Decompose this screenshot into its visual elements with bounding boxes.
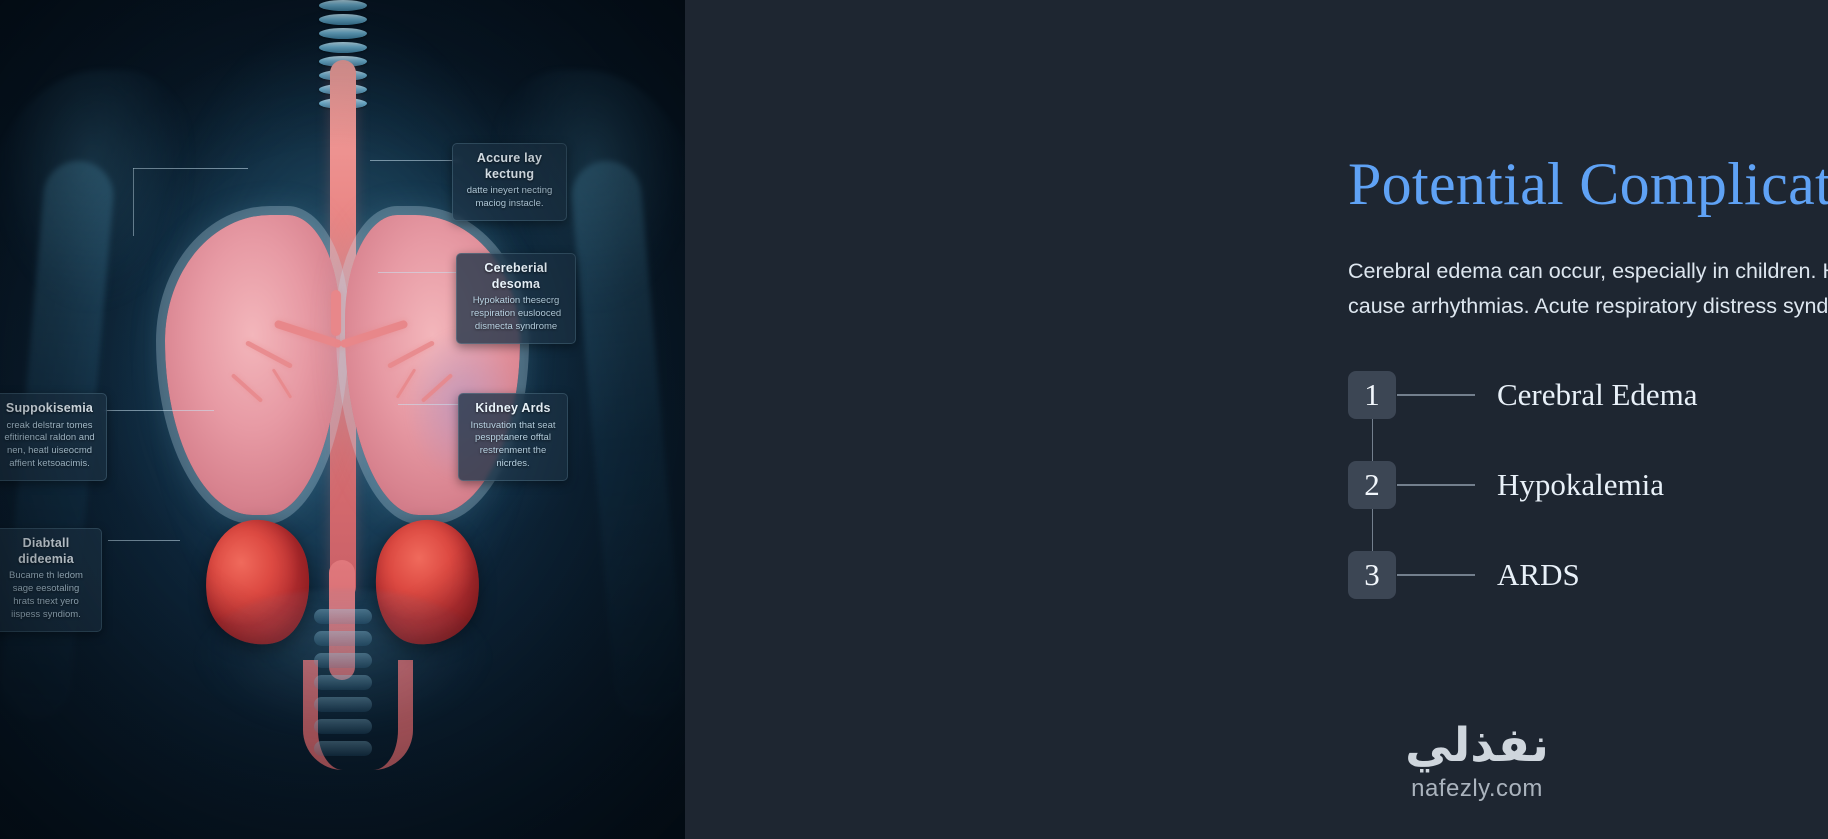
slide-description: Cerebral edema can occur, especially in … bbox=[1348, 254, 1828, 324]
list-item[interactable]: 2 Hypokalemia bbox=[1348, 440, 1698, 530]
page-title: Potential Complications bbox=[1348, 152, 1828, 217]
step-number-badge: 1 bbox=[1348, 371, 1396, 419]
callout-box: Diabtall dideemia Bucame th ledom sage e… bbox=[0, 528, 102, 632]
callout-body: creak delstrar tomes efitiriencal raldon… bbox=[4, 420, 95, 471]
callout-title: Cereberial desoma bbox=[468, 261, 564, 292]
step-label: Cerebral Edema bbox=[1497, 377, 1698, 413]
callout-leader-line bbox=[108, 540, 180, 541]
list-item[interactable]: 3 ARDS bbox=[1348, 530, 1698, 620]
callout-leader-line bbox=[370, 160, 460, 161]
spine-vertebrae bbox=[314, 609, 372, 799]
step-number-badge: 3 bbox=[1348, 551, 1396, 599]
step-connector-line bbox=[1397, 484, 1475, 486]
logo-arabic-wordmark: نفذلي bbox=[1382, 722, 1572, 769]
callout-box: Accure lay kectung datte ineyert necting… bbox=[452, 143, 567, 221]
step-label: ARDS bbox=[1497, 557, 1580, 593]
callout-box: Kidney Ards Instuvation that seat pesppt… bbox=[458, 393, 568, 481]
bronchial-tree bbox=[213, 290, 473, 440]
step-number-badge: 2 bbox=[1348, 461, 1396, 509]
logo-domain-text: nafezly.com bbox=[1382, 775, 1572, 803]
callout-box: Cereberial desoma Hypokation thesecrg re… bbox=[456, 253, 576, 344]
callout-leader-line bbox=[133, 168, 134, 236]
callout-body: Hypokation thesecrg respiration euslooce… bbox=[468, 295, 564, 333]
brand-logo: نفذلي nafezly.com bbox=[1382, 722, 1572, 803]
step-label: Hypokalemia bbox=[1497, 467, 1664, 503]
presentation-slide: Accure lay kectung datte ineyert necting… bbox=[0, 0, 1828, 839]
callout-leader-line bbox=[104, 410, 214, 411]
callout-title: Diabtall dideemia bbox=[2, 536, 90, 567]
callout-title: Kidney Ards bbox=[470, 401, 556, 417]
anatomy-illustration-panel: Accure lay kectung datte ineyert necting… bbox=[0, 0, 685, 839]
callout-leader-line bbox=[133, 168, 248, 169]
callout-title: Suppokisemia bbox=[4, 401, 95, 417]
list-item[interactable]: 1 Cerebral Edema bbox=[1348, 350, 1698, 440]
step-connector-line bbox=[1397, 394, 1475, 396]
callout-leader-line bbox=[398, 404, 460, 405]
callout-body: Instuvation that seat pespptanere offtal… bbox=[470, 420, 556, 471]
callout-leader-line bbox=[378, 272, 456, 273]
callout-body: Bucame th ledom sage eesotaling hrats tn… bbox=[2, 570, 90, 621]
step-connector-line bbox=[1397, 574, 1475, 576]
content-panel: Potential Complications Cerebral edema c… bbox=[685, 0, 1828, 839]
callout-box: Suppokisemia creak delstrar tomes efitir… bbox=[0, 393, 107, 481]
callout-body: datte ineyert necting maciog instacle. bbox=[464, 185, 555, 211]
callout-title: Accure lay kectung bbox=[464, 151, 555, 182]
complications-list: 1 Cerebral Edema 2 Hypokalemia 3 ARDS bbox=[1348, 350, 1698, 620]
